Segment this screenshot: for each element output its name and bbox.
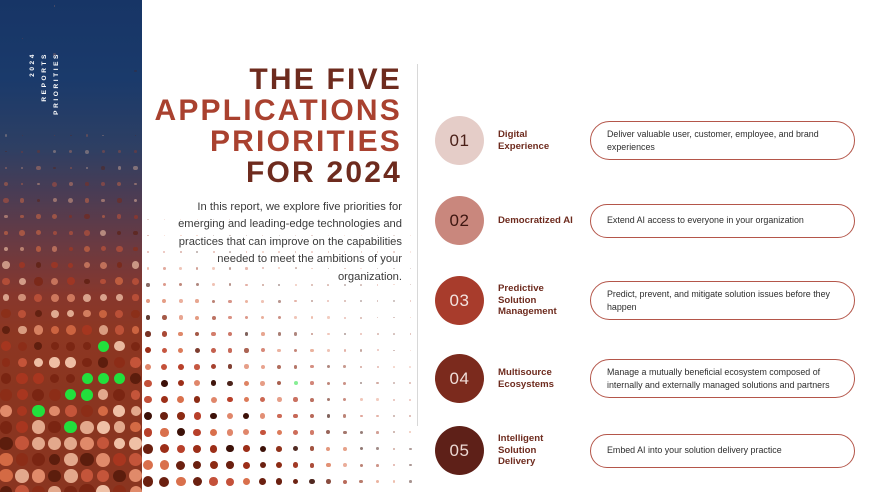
priority-description-text: Embed AI into your solution delivery pra…: [607, 444, 782, 457]
priority-number-badge: 03: [435, 276, 484, 325]
title-line-3: PRIORITIES: [150, 126, 402, 157]
priority-label: Predictive Solution Management: [498, 283, 576, 318]
priority-description-pill: Predict, prevent, and mitigate solution …: [590, 281, 855, 320]
priority-number-badge: 05: [435, 426, 484, 475]
vertical-label-2024: 2024: [30, 52, 37, 77]
priority-label: Intelligent Solution Delivery: [498, 433, 576, 468]
title-line-2: APPLICATIONS: [150, 95, 402, 126]
priority-row[interactable]: 01Digital ExperienceDeliver valuable use…: [435, 116, 855, 165]
vertical-label-priorities: PRIORITIES: [54, 52, 61, 115]
priority-description-text: Predict, prevent, and mitigate solution …: [607, 288, 838, 313]
priority-row[interactable]: 04Multisource EcosystemsManage a mutuall…: [435, 354, 855, 403]
priority-description-text: Deliver valuable user, customer, employe…: [607, 128, 838, 153]
vertical-label-reports: REPORTS: [42, 52, 49, 102]
priority-number-badge: 02: [435, 196, 484, 245]
vertical-divider: [417, 64, 418, 426]
priority-number-badge: 01: [435, 116, 484, 165]
title-line-4: FOR 2024: [150, 157, 402, 188]
slide-canvas: PRIORITIES REPORTS 2024 THE FIVE APPLICA…: [0, 0, 875, 492]
priority-description-pill: Manage a mutually beneficial ecosystem c…: [590, 359, 855, 398]
priority-list: 01Digital ExperienceDeliver valuable use…: [435, 56, 855, 456]
priority-description-text: Manage a mutually beneficial ecosystem c…: [607, 366, 838, 391]
priority-number-badge: 04: [435, 354, 484, 403]
priority-label: Democratized AI: [498, 215, 576, 227]
page-title: THE FIVE APPLICATIONS PRIORITIES FOR 202…: [150, 64, 402, 188]
priority-description-pill: Extend AI access to everyone in your org…: [590, 204, 855, 238]
priority-row[interactable]: 05Intelligent Solution DeliveryEmbed AI …: [435, 426, 855, 475]
priority-label: Digital Experience: [498, 129, 576, 152]
priority-description-pill: Deliver valuable user, customer, employe…: [590, 121, 855, 160]
priority-description-pill: Embed AI into your solution delivery pra…: [590, 434, 855, 468]
lead-paragraph: In this report, we explore five prioriti…: [172, 199, 402, 286]
vertical-report-label: PRIORITIES REPORTS 2024: [22, 52, 82, 162]
title-line-1: THE FIVE: [150, 64, 402, 95]
left-gradient-panel: PRIORITIES REPORTS 2024: [0, 0, 142, 492]
priority-description-text: Extend AI access to everyone in your org…: [607, 214, 804, 227]
priority-row[interactable]: 03Predictive Solution ManagementPredict,…: [435, 276, 855, 325]
priority-label: Multisource Ecosystems: [498, 367, 576, 390]
priority-row[interactable]: 02Democratized AIExtend AI access to eve…: [435, 196, 855, 245]
